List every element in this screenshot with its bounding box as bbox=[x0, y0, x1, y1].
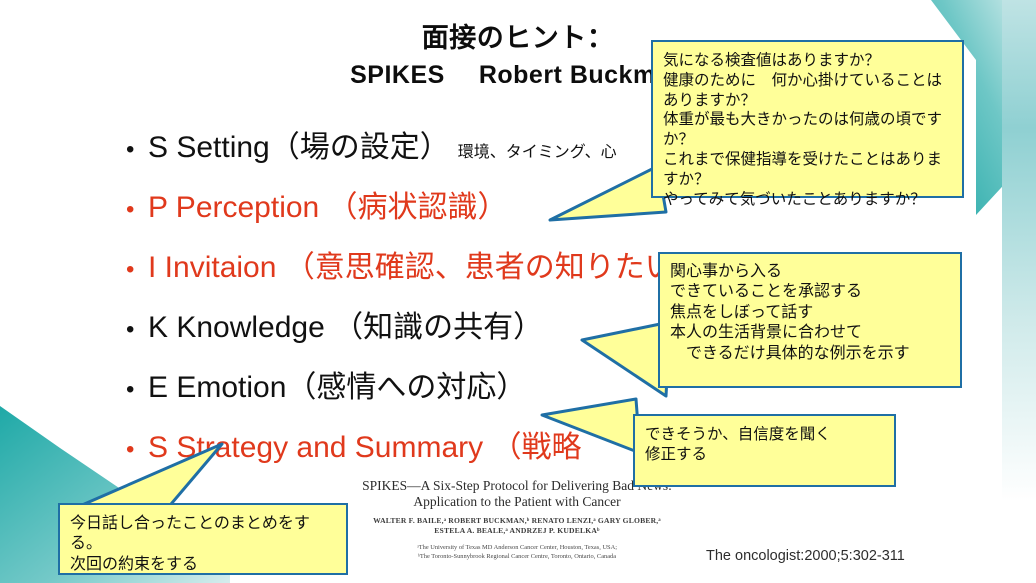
bullet-marker-icon: • bbox=[126, 378, 148, 402]
bullet-marker-icon: • bbox=[126, 318, 148, 342]
callout-box-emotion-tips[interactable]: できそうか、自信度を聞く 修正する bbox=[633, 414, 896, 487]
list-item-label: I Invitaion （意思確認、患者の知りたい bbox=[148, 242, 675, 286]
list-item-label: S Strategy and Summary （戦略 bbox=[148, 422, 581, 466]
callout-box-perception-questions[interactable]: 気になる検査値はありますか？ 健康のために 何か心掛けていることはありますか？ … bbox=[651, 40, 964, 198]
bullet-marker-icon: • bbox=[126, 138, 148, 162]
list-item-label: S Setting（場の設定） bbox=[148, 122, 450, 166]
list-item-label: E Emotion（感情への対応） bbox=[148, 362, 526, 406]
paper-affiliations: ᵃThe University of Texas MD Anderson Can… bbox=[352, 543, 682, 562]
list-item-label: P Perception （病状認識） bbox=[148, 182, 508, 226]
paper-authors: WALTER F. BAILE,ᵃ ROBERT BUCKMAN,ᵇ RENAT… bbox=[352, 516, 682, 537]
bullet-marker-icon: • bbox=[126, 438, 148, 462]
slide-canvas: 面接のヒント： SPIKESRobert Buckman • S Setting… bbox=[0, 0, 1036, 583]
list-item-note: 環境、タイミング、心 bbox=[458, 138, 617, 162]
paper-thumbnail: SPIKES—A Six-Step Protocol for Deliverin… bbox=[352, 478, 682, 561]
bullet-marker-icon: • bbox=[126, 258, 148, 282]
callout-box-knowledge-tips[interactable]: 関心事から入る できていることを承認する 焦点をしぼって話す 本人の生活背景に合… bbox=[658, 252, 962, 388]
callout-box-summary-tips[interactable]: 今日話し合ったことのまとめをする。 次回の約束をする bbox=[58, 503, 348, 575]
list-item-label: K Knowledge （知識の共有） bbox=[148, 302, 543, 346]
journal-citation: The oncologist:2000;5:302-311 bbox=[706, 548, 905, 564]
bullet-marker-icon: • bbox=[126, 198, 148, 222]
subtitle-spikes: SPIKES bbox=[350, 61, 445, 90]
